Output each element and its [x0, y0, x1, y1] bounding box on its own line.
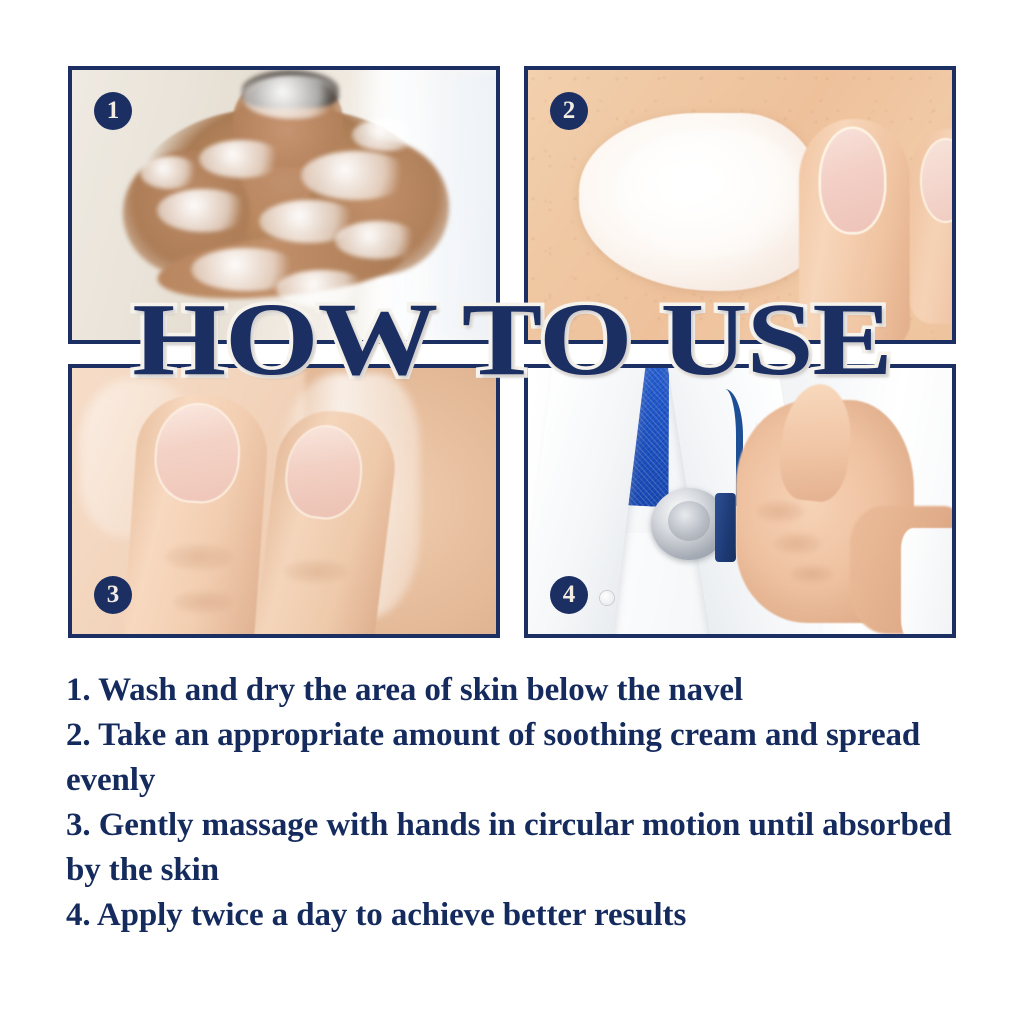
photo-doctor-thumbs-up — [528, 368, 952, 634]
instruction-step-3: 3. Gently massage with hands in circular… — [66, 803, 966, 893]
step-panel-4: 4 — [524, 364, 956, 638]
step-badge-2: 2 — [550, 92, 588, 130]
step-badge-4: 4 — [550, 576, 588, 614]
instruction-step-1: 1. Wash and dry the area of skin below t… — [66, 668, 966, 713]
instruction-step-2: 2. Take an appropriate amount of soothin… — [66, 713, 966, 803]
photo-fingers-massaging — [72, 368, 496, 634]
step-badge-1: 1 — [94, 92, 132, 130]
how-to-use-infographic: 1 2 — [0, 0, 1024, 1024]
instruction-step-4: 4. Apply twice a day to achieve better r… — [66, 893, 966, 938]
page-title: HOW TO USE — [0, 288, 1024, 392]
instructions-list: 1. Wash and dry the area of skin below t… — [66, 668, 966, 938]
step-badge-3: 3 — [94, 576, 132, 614]
step-panel-3: 3 — [68, 364, 500, 638]
